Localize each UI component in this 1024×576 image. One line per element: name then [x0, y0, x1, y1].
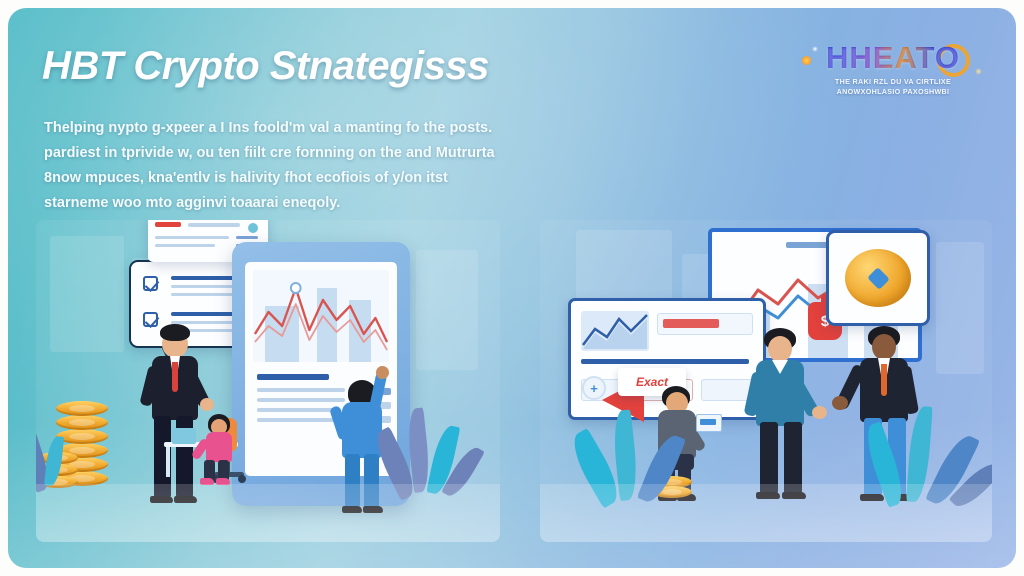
laptop-icon	[172, 428, 196, 444]
hand-left	[832, 396, 848, 410]
card-text-line	[188, 223, 240, 227]
hand-right	[812, 406, 827, 419]
tablet-screen-content	[700, 419, 716, 425]
desk-leg	[166, 447, 170, 477]
plus-badge-icon: +	[582, 376, 606, 400]
gold-coin-icon	[56, 401, 108, 416]
device-text-line	[257, 418, 339, 422]
price-chart	[253, 270, 389, 362]
banner-description: Thelping nypto g-xpeer a I Ins foold'm v…	[44, 116, 734, 216]
illustration-panel-right: $ Vas Set Exact +	[540, 220, 992, 542]
logo-tagline-line-2: ANOWXOHLASIO PAXOSHWBI	[798, 87, 988, 97]
thumbnail-chart-icon	[581, 311, 649, 351]
description-line-4: starneme woo mto agginvi toaarai eneqoly…	[44, 191, 734, 216]
chart-line-svg	[253, 270, 389, 362]
card-text-line	[155, 236, 229, 239]
description-line-2: pardiest in tprivide w, ou ten fiilt cre…	[44, 141, 734, 166]
logo-wordmark: HHEATO	[798, 42, 988, 73]
brand-logo[interactable]: HHEATO THE RAKI RZL DU VA CIRTLIXE ANOWX…	[798, 42, 988, 97]
necktie	[881, 364, 887, 396]
card-avatar-icon	[248, 223, 258, 233]
gold-coin-icon	[845, 249, 911, 307]
card-text-line	[236, 236, 258, 239]
hair	[160, 324, 190, 341]
logo-tagline-line-1: THE RAKI RZL DU VA CIRTLIXE	[798, 77, 988, 87]
card-text-line	[155, 244, 215, 247]
person-seated-woman	[194, 412, 240, 484]
head	[768, 336, 792, 362]
background-texture-block	[936, 242, 984, 374]
panel-floor	[36, 484, 500, 542]
card-highlight-text	[663, 319, 719, 328]
checkbox-checked-icon	[143, 276, 158, 291]
head	[872, 334, 896, 360]
background-texture-block	[416, 250, 478, 370]
card-divider	[581, 359, 749, 364]
background-texture-block	[50, 236, 124, 352]
person-presenter-teal	[738, 324, 834, 508]
hand-raised	[376, 366, 389, 379]
device-text-line	[257, 374, 329, 380]
logo-tagline: THE RAKI RZL DU VA CIRTLIXE ANOWXOHLASIO…	[798, 77, 988, 97]
torso-top	[206, 432, 232, 462]
page-title: HBT Crypto Stnategisss	[42, 44, 489, 89]
necktie	[172, 362, 178, 392]
gold-coin-icon	[56, 415, 108, 430]
card-accent-bar	[155, 222, 181, 227]
gold-coin-card	[826, 230, 930, 326]
description-line-3: 8now mpuces, kna'entlv is halivity fhot …	[44, 166, 734, 191]
hand-right	[200, 398, 214, 411]
gold-coin-icon	[56, 429, 108, 444]
device-text-line	[257, 408, 333, 412]
description-line-1: Thelping nypto g-xpeer a I Ins foold'm v…	[44, 116, 734, 141]
panel-floor	[540, 484, 992, 542]
badge-symbol: +	[590, 381, 598, 396]
promo-banner: HBT Crypto Stnategisss Thelping nypto g-…	[8, 8, 1016, 568]
illustration-panel-left	[36, 220, 500, 542]
